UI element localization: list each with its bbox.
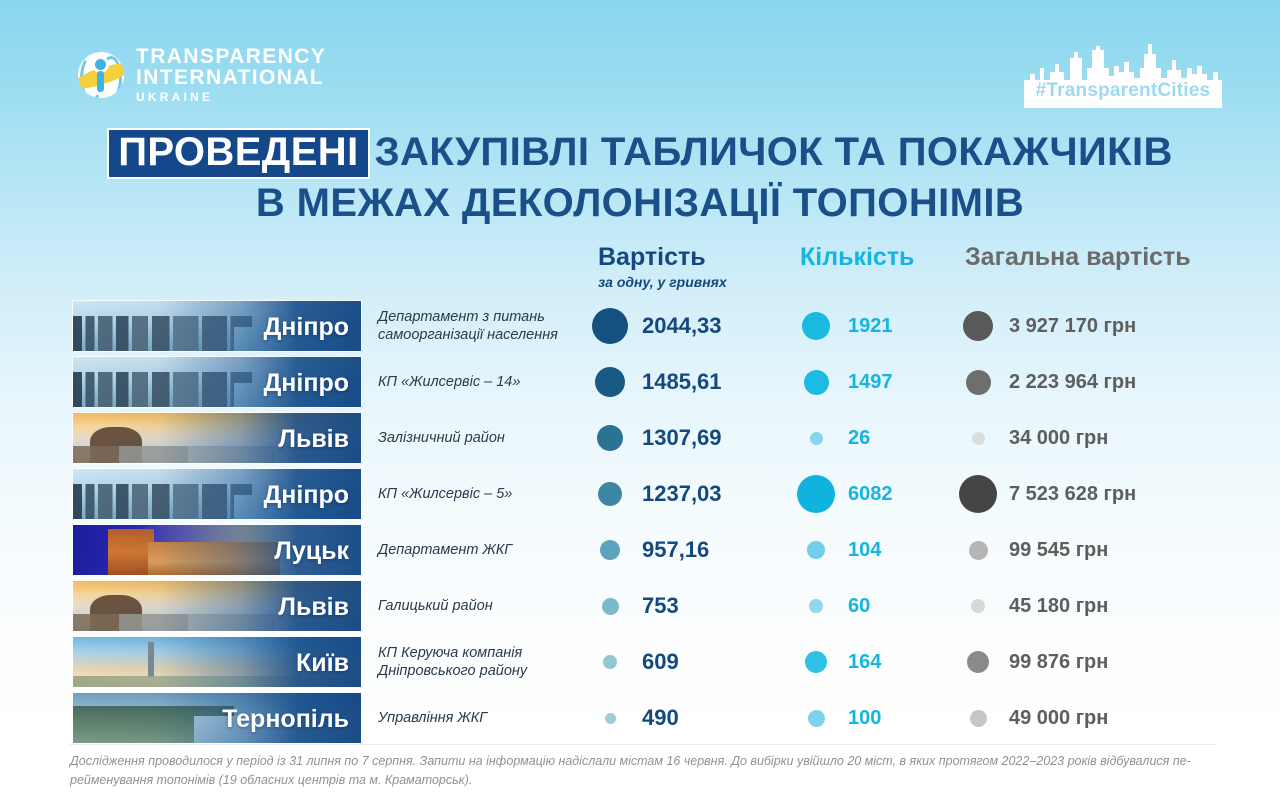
table-row: ЛьвівЗалізничний район1307,692634 000 гр… (0, 412, 1280, 464)
cost-dot (602, 598, 619, 615)
footnote-text: Дослідження проводилося у період із 31 л… (70, 752, 1230, 790)
total-value: 3 927 170 грн (1009, 315, 1136, 338)
header-quantity: Кількість (800, 243, 914, 272)
total-value: 99 876 грн (1009, 651, 1108, 674)
total-value: 99 545 грн (1009, 539, 1108, 562)
city-banner: Львів (72, 580, 362, 632)
table-row: ЛьвівГалицький район7536045 180 грн (0, 580, 1280, 632)
total-dot-wrap (955, 651, 1001, 673)
total-cell: 7 523 628 грн (955, 468, 1255, 520)
quantity-dot (809, 599, 823, 613)
quantity-cell: 104 (792, 524, 962, 576)
quantity-dot-wrap (792, 312, 840, 340)
quantity-value: 104 (848, 539, 881, 562)
ti-globe-icon (78, 52, 124, 98)
quantity-value: 164 (848, 651, 881, 674)
table-row: ДніпроКП «Жилсервіс – 14»1485,6114972 22… (0, 356, 1280, 408)
quantity-dot (807, 541, 825, 559)
total-dot (970, 710, 987, 727)
table-row: ТернопільУправління ЖКГ49010049 000 грн (0, 692, 1280, 744)
cost-dot-wrap (588, 425, 632, 451)
entity-label: Управління ЖКГ (378, 692, 578, 744)
cost-dot (603, 655, 617, 669)
cost-dot-wrap (588, 308, 632, 344)
city-banner: Тернопіль (72, 692, 362, 744)
total-cell: 99 545 грн (955, 524, 1255, 576)
page-title: ПРОВЕДЕНІЗАКУПІВЛІ ТАБЛИЧОК ТА ПОКАЖЧИКІ… (0, 128, 1280, 227)
cost-dot (605, 713, 616, 724)
quantity-value: 1497 (848, 371, 893, 394)
transparency-international-logo: TRANSPARENCY INTERNATIONAL UKRAINE (78, 46, 326, 103)
table-row: ЛуцькДепартамент ЖКГ957,1610499 545 грн (0, 524, 1280, 576)
city-banner: Дніпро (72, 468, 362, 520)
quantity-dot-wrap (792, 710, 840, 727)
entity-label: КП «Жилсервіс – 14» (378, 356, 578, 408)
entity-label: Департамент ЖКГ (378, 524, 578, 576)
cost-dot-wrap (588, 482, 632, 506)
total-dot (969, 541, 988, 560)
total-dot-wrap (955, 311, 1001, 341)
total-dot (972, 432, 985, 445)
total-cell: 2 223 964 грн (955, 356, 1255, 408)
quantity-value: 6082 (848, 483, 893, 506)
cost-cell: 1237,03 (588, 468, 788, 520)
entity-label: Департамент з питань самоорганізації нас… (378, 300, 578, 352)
entity-label: КП Керуюча компанія Дніпровського району (378, 636, 578, 688)
total-value: 2 223 964 грн (1009, 371, 1136, 394)
quantity-value: 1921 (848, 315, 893, 338)
quantity-dot-wrap (792, 370, 840, 395)
quantity-cell: 60 (792, 580, 962, 632)
total-dot-wrap (955, 710, 1001, 727)
title-line-2: В МЕЖАХ ДЕКОЛОНІЗАЦІЇ ТОПОНІМІВ (0, 179, 1280, 227)
table-row: ДніпроКП «Жилсервіс – 5»1237,0360827 523… (0, 468, 1280, 520)
quantity-dot-wrap (792, 599, 840, 613)
total-cell: 3 927 170 грн (955, 300, 1255, 352)
title-line-1: ПРОВЕДЕНІЗАКУПІВЛІ ТАБЛИЧОК ТА ПОКАЖЧИКІ… (0, 128, 1280, 179)
cost-value: 1237,03 (642, 481, 722, 507)
table-row: КиївКП Керуюча компанія Дніпровського ра… (0, 636, 1280, 688)
cost-dot (598, 482, 622, 506)
quantity-dot (808, 710, 825, 727)
city-banner: Львів (72, 412, 362, 464)
quantity-cell: 1921 (792, 300, 962, 352)
quantity-cell: 26 (792, 412, 962, 464)
city-label: Тернопіль (222, 693, 349, 744)
quantity-cell: 1497 (792, 356, 962, 408)
total-dot-wrap (955, 541, 1001, 560)
quantity-dot (810, 432, 823, 445)
cost-value: 1485,61 (642, 369, 722, 395)
data-rows: ДніпроДепартамент з питань самоорганізац… (0, 300, 1280, 748)
city-label: Дніпро (264, 357, 350, 408)
cost-cell: 2044,33 (588, 300, 788, 352)
city-banner: Київ (72, 636, 362, 688)
entity-label: КП «Жилсервіс – 5» (378, 468, 578, 520)
quantity-value: 26 (848, 427, 870, 450)
total-cell: 34 000 грн (955, 412, 1255, 464)
city-banner: Дніпро (72, 356, 362, 408)
logo-wordmark: TRANSPARENCY INTERNATIONAL UKRAINE (136, 46, 326, 103)
total-dot (966, 370, 991, 395)
total-dot (963, 311, 993, 341)
total-value: 7 523 628 грн (1009, 483, 1136, 506)
hashtag-text: #TransparentCities (1024, 80, 1222, 102)
quantity-dot-wrap (792, 651, 840, 673)
city-banner: Дніпро (72, 300, 362, 352)
total-dot-wrap (955, 599, 1001, 613)
cost-dot (595, 367, 625, 397)
quantity-dot (805, 651, 827, 673)
quantity-dot-wrap (792, 475, 840, 513)
total-value: 49 000 грн (1009, 707, 1108, 730)
city-label: Луцьк (274, 525, 349, 576)
logo-line-3: UKRAINE (136, 91, 326, 103)
city-label: Київ (296, 637, 349, 688)
cost-value: 490 (642, 705, 679, 731)
quantity-dot (804, 370, 829, 395)
table-row: ДніпроДепартамент з питань самоорганізац… (0, 300, 1280, 352)
cost-dot (597, 425, 623, 451)
cost-dot-wrap (588, 598, 632, 615)
cost-value: 609 (642, 649, 679, 675)
cost-dot (592, 308, 628, 344)
total-dot-wrap (955, 370, 1001, 395)
cost-cell: 1307,69 (588, 412, 788, 464)
cost-value: 2044,33 (642, 313, 722, 339)
total-value: 45 180 грн (1009, 595, 1108, 618)
cost-dot-wrap (588, 655, 632, 669)
city-label: Львів (278, 581, 349, 632)
total-cell: 49 000 грн (955, 692, 1255, 744)
entity-label: Залізничний район (378, 412, 578, 464)
title-line-1-rest: ЗАКУПІВЛІ ТАБЛИЧОК ТА ПОКАЖЧИКІВ (375, 130, 1173, 174)
total-value: 34 000 грн (1009, 427, 1108, 450)
quantity-value: 60 (848, 595, 870, 618)
total-dot (967, 651, 989, 673)
total-dot (959, 475, 997, 513)
quantity-cell: 6082 (792, 468, 962, 520)
logo-line-2: INTERNATIONAL (136, 67, 326, 88)
city-label: Дніпро (264, 469, 350, 520)
hashtag-badge: #TransparentCities (1024, 38, 1222, 108)
column-headers: Вартість за одну, у гривнях Кількість За… (0, 243, 1280, 303)
total-cell: 45 180 грн (955, 580, 1255, 632)
city-label: Львів (278, 413, 349, 464)
footnote-divider (70, 744, 1216, 745)
title-highlight: ПРОВЕДЕНІ (107, 128, 369, 179)
quantity-cell: 164 (792, 636, 962, 688)
quantity-dot-wrap (792, 432, 840, 445)
header-total-cost: Загальна вартість (965, 243, 1191, 272)
entity-label: Галицький район (378, 580, 578, 632)
total-dot-wrap (955, 432, 1001, 445)
cost-value: 957,16 (642, 537, 709, 563)
infographic-poster: TRANSPARENCY INTERNATIONAL UKRAINE #Tran… (0, 0, 1280, 800)
cost-cell: 1485,61 (588, 356, 788, 408)
header-cost: Вартість (598, 243, 706, 272)
cost-cell: 957,16 (588, 524, 788, 576)
cost-dot-wrap (588, 367, 632, 397)
cost-cell: 753 (588, 580, 788, 632)
logo-line-1: TRANSPARENCY (136, 46, 326, 67)
quantity-dot (802, 312, 830, 340)
quantity-cell: 100 (792, 692, 962, 744)
header-cost-subtitle: за одну, у гривнях (598, 274, 727, 290)
city-label: Дніпро (264, 301, 350, 352)
cost-value: 753 (642, 593, 679, 619)
cost-cell: 609 (588, 636, 788, 688)
cost-dot (600, 540, 620, 560)
quantity-dot (797, 475, 835, 513)
cost-value: 1307,69 (642, 425, 722, 451)
cost-cell: 490 (588, 692, 788, 744)
city-banner: Луцьк (72, 524, 362, 576)
quantity-value: 100 (848, 707, 881, 730)
total-cell: 99 876 грн (955, 636, 1255, 688)
cost-dot-wrap (588, 540, 632, 560)
total-dot-wrap (955, 475, 1001, 513)
total-dot (971, 599, 985, 613)
cost-dot-wrap (588, 713, 632, 724)
quantity-dot-wrap (792, 541, 840, 559)
